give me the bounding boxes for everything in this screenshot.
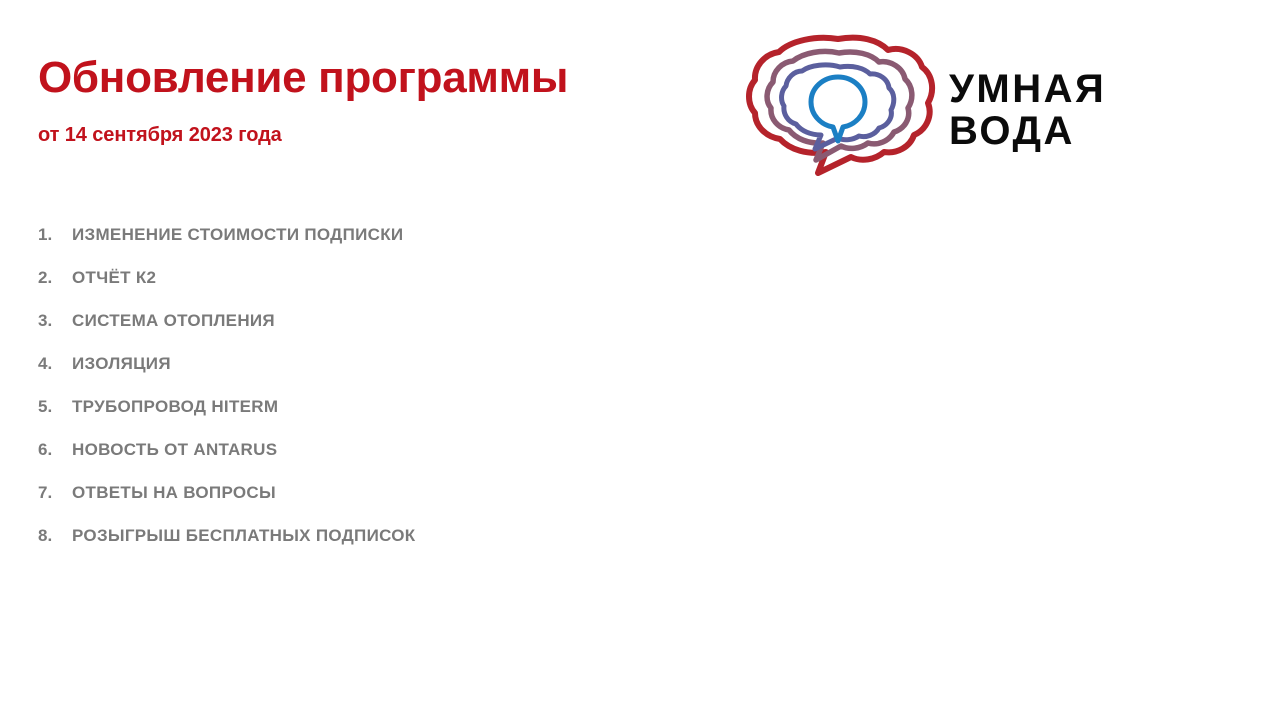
list-item-number: 5. (38, 398, 72, 415)
list-item-label: ИЗМЕНЕНИЕ СТОИМОСТИ ПОДПИСКИ (72, 226, 403, 243)
brand-wordmark-line-2: ВОДА (949, 110, 1106, 152)
brand-wordmark: УМНАЯ ВОДА (949, 68, 1106, 153)
speech-bubble-brain-waterdrop-icon (742, 33, 937, 188)
list-item-number: 6. (38, 441, 72, 458)
page-title: Обновление программы (38, 55, 678, 102)
list-item-label: СИСТЕМА ОТОПЛЕНИЯ (72, 312, 275, 329)
agenda-list: 1. ИЗМЕНЕНИЕ СТОИМОСТИ ПОДПИСКИ 2. ОТЧЁТ… (38, 226, 738, 570)
list-item-number: 2. (38, 269, 72, 286)
brand-logo: УМНАЯ ВОДА (742, 30, 1142, 190)
list-item: 6. НОВОСТЬ ОТ ANTARUS (38, 441, 738, 484)
list-item-label: ИЗОЛЯЦИЯ (72, 355, 171, 372)
list-item-label: РОЗЫГРЫШ БЕСПЛАТНЫХ ПОДПИСОК (72, 527, 415, 544)
list-item-label: ОТВЕТЫ НА ВОПРОСЫ (72, 484, 276, 501)
slide-canvas: Обновление программы от 14 сентября 2023… (0, 0, 1280, 720)
list-item-number: 4. (38, 355, 72, 372)
list-item-label: ОТЧЁТ К2 (72, 269, 156, 286)
list-item: 1. ИЗМЕНЕНИЕ СТОИМОСТИ ПОДПИСКИ (38, 226, 738, 269)
list-item-label: НОВОСТЬ ОТ ANTARUS (72, 441, 277, 458)
list-item-number: 7. (38, 484, 72, 501)
list-item: 8. РОЗЫГРЫШ БЕСПЛАТНЫХ ПОДПИСОК (38, 527, 738, 570)
heading-block: Обновление программы от 14 сентября 2023… (38, 55, 678, 146)
list-item: 2. ОТЧЁТ К2 (38, 269, 738, 312)
list-item-number: 3. (38, 312, 72, 329)
slide-subtitle-date: от 14 сентября 2023 года (38, 102, 678, 146)
list-item-number: 1. (38, 226, 72, 243)
list-item: 5. ТРУБОПРОВОД HITERM (38, 398, 738, 441)
list-item: 3. СИСТЕМА ОТОПЛЕНИЯ (38, 312, 738, 355)
list-item: 4. ИЗОЛЯЦИЯ (38, 355, 738, 398)
brand-wordmark-line-1: УМНАЯ (949, 68, 1106, 110)
list-item-label: ТРУБОПРОВОД HITERM (72, 398, 278, 415)
list-item: 7. ОТВЕТЫ НА ВОПРОСЫ (38, 484, 738, 527)
list-item-number: 8. (38, 527, 72, 544)
